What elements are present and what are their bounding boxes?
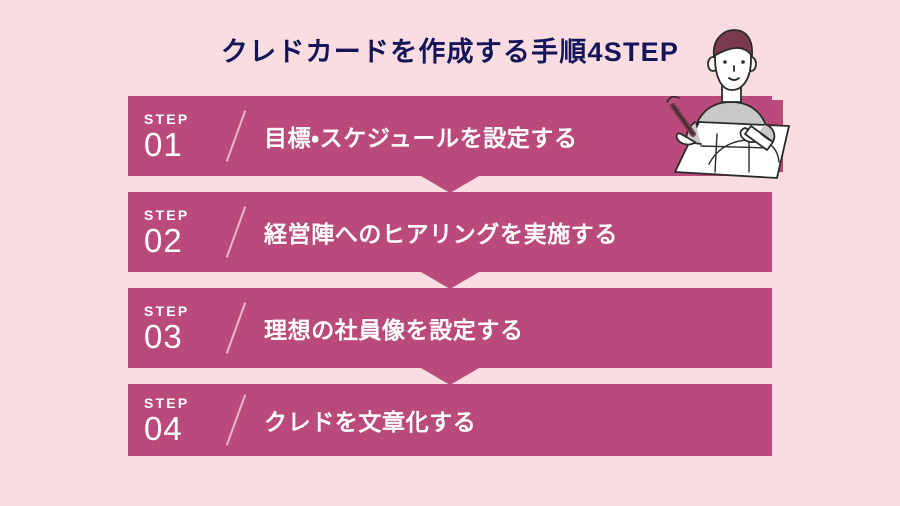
step-bar[interactable]: STEP 01 目標・スケジュールを設定する <box>128 96 772 176</box>
step-word-label: STEP <box>144 304 222 318</box>
step-word-label: STEP <box>144 396 222 410</box>
step-label: 経営陣へのヒアリングを実施する <box>264 215 618 249</box>
slash-divider-icon <box>222 299 250 357</box>
step-number-block: STEP 04 <box>144 396 222 445</box>
chevron-down-connector-icon <box>421 176 479 193</box>
slash-divider-icon <box>222 107 250 165</box>
slide-canvas: クレドカードを作成する手順4STEP <box>0 0 900 506</box>
step-number-block: STEP 03 <box>144 304 222 353</box>
step-number: 01 <box>144 128 222 161</box>
step-bar[interactable]: STEP 04 クレドを文章化する <box>128 384 772 456</box>
step-number-block: STEP 02 <box>144 208 222 257</box>
step-bar[interactable]: STEP 02 経営陣へのヒアリングを実施する <box>128 192 772 272</box>
step-row[interactable]: STEP 03 理想の社員像を設定する <box>128 288 772 368</box>
step-number: 03 <box>144 320 222 353</box>
step-bar[interactable]: STEP 03 理想の社員像を設定する <box>128 288 772 368</box>
slash-divider-icon <box>222 203 250 261</box>
step-row[interactable]: STEP 02 経営陣へのヒアリングを実施する <box>128 192 772 272</box>
step-word-label: STEP <box>144 208 222 222</box>
slash-divider-icon <box>222 391 250 449</box>
step-label: 理想の社員像を設定する <box>264 311 524 345</box>
step-number: 02 <box>144 224 222 257</box>
step-number: 04 <box>144 412 222 445</box>
step-label: 目標・スケジュールを設定する <box>264 119 578 153</box>
step-row[interactable]: STEP 01 目標・スケジュールを設定する <box>128 96 772 176</box>
step-row[interactable]: STEP 04 クレドを文章化する <box>128 384 772 456</box>
page-title: クレドカードを作成する手順4STEP <box>0 30 900 69</box>
step-label: クレドを文章化する <box>264 403 476 437</box>
step-word-label: STEP <box>144 112 222 126</box>
steps-list: STEP 01 目標・スケジュールを設定する STEP 02 経営陣へのヒアリン… <box>128 96 772 456</box>
step-number-block: STEP 01 <box>144 112 222 161</box>
chevron-down-connector-icon <box>421 368 479 385</box>
chevron-down-connector-icon <box>421 272 479 289</box>
